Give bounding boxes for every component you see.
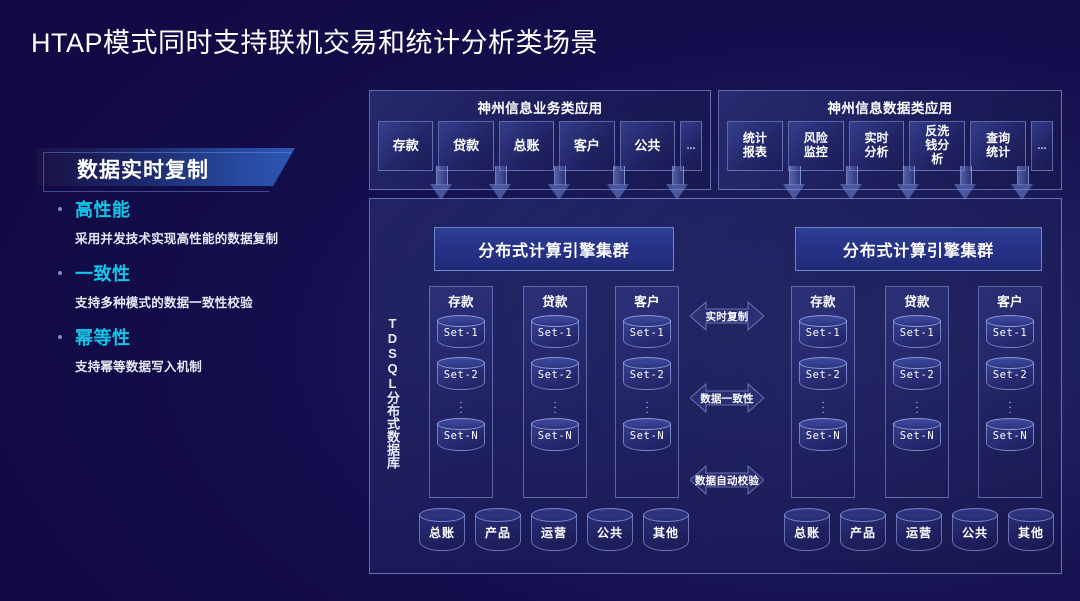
- set-cylinder: Set-1: [437, 315, 485, 352]
- sync-arrow: 数据一致性: [690, 378, 764, 418]
- cylinder-top: [419, 508, 465, 522]
- arrow-down-icon: [666, 166, 688, 200]
- app-chip: 实时 分析: [849, 121, 905, 171]
- app-chip: 公共: [620, 121, 675, 171]
- sync-arrow: 数据自动校验: [690, 460, 764, 500]
- set-cylinder: Set-1: [623, 315, 671, 352]
- set-cylinder: Set-2: [531, 357, 579, 394]
- bullet-title: 高性能: [75, 196, 131, 222]
- ribbon-label: 数据实时复制: [77, 154, 209, 184]
- sync-arrow-label: 实时复制: [690, 296, 764, 336]
- set-column: 贷款Set-1Set-2...Set-N: [885, 286, 949, 498]
- set-label: Set-N: [531, 430, 579, 442]
- cylinder-top: [893, 315, 941, 327]
- app-chip-more: ...: [680, 121, 702, 171]
- arrow-down-icon: [1011, 166, 1033, 200]
- app-chip: 客户: [559, 121, 614, 171]
- arrow-down-icon: [840, 166, 862, 200]
- bullet-description: 支持幂等数据写入机制: [75, 356, 358, 375]
- set-label: Set-1: [799, 327, 847, 339]
- vertical-ellipsis: ...: [616, 398, 678, 413]
- set-cylinder: Set-N: [531, 418, 579, 455]
- app-chip: 总账: [499, 121, 554, 171]
- store-cylinder: 运营: [896, 508, 942, 556]
- store-label: 运营: [531, 524, 577, 541]
- set-label: Set-N: [893, 430, 941, 442]
- store-cylinder: 其他: [643, 508, 689, 556]
- store-cylinder: 其他: [1008, 508, 1054, 556]
- sync-arrow-label: 数据自动校验: [690, 460, 764, 500]
- bullet-header: 高性能: [58, 196, 358, 222]
- store-cylinder: 总账: [784, 508, 830, 556]
- store-cylinder: 公共: [587, 508, 633, 556]
- bullet-description: 采用并发技术实现高性能的数据复制: [75, 228, 358, 247]
- store-label: 总账: [419, 524, 465, 541]
- set-cylinder: Set-N: [437, 418, 485, 455]
- bullet-dot-icon: [58, 207, 62, 211]
- cylinder-top: [531, 315, 579, 327]
- cylinder-top: [587, 508, 633, 522]
- set-label: Set-2: [437, 369, 485, 381]
- arrow-down-icon: [607, 166, 629, 200]
- bullet-header: 一致性: [58, 260, 358, 286]
- cylinder-top: [1008, 508, 1054, 522]
- set-label: Set-N: [623, 430, 671, 442]
- cylinder-top: [840, 508, 886, 522]
- cylinder-top: [531, 508, 577, 522]
- cylinder-top: [986, 357, 1034, 369]
- store-label: 产品: [840, 524, 886, 541]
- app-chip: 统计 报表: [727, 121, 783, 171]
- cylinder-top: [531, 418, 579, 430]
- store-label: 其他: [643, 524, 689, 541]
- set-column-title: 贷款: [886, 291, 948, 310]
- set-label: Set-2: [531, 369, 579, 381]
- list-item: 幂等性 支持幂等数据写入机制: [58, 324, 358, 375]
- cylinder-top: [784, 508, 830, 522]
- set-cylinder: Set-1: [531, 315, 579, 352]
- set-label: Set-1: [437, 327, 485, 339]
- arrow-down-icon: [783, 166, 805, 200]
- arrow-down-icon: [954, 166, 976, 200]
- feature-bullet-list: 高性能 采用并发技术实现高性能的数据复制 一致性 支持多种模式的数据一致性校验 …: [58, 196, 358, 388]
- page-title: HTAP模式同时支持联机交易和统计分析类场景: [31, 21, 598, 60]
- app-group-title: 神州信息业务类应用: [370, 97, 710, 117]
- set-label: Set-2: [986, 369, 1034, 381]
- cylinder-top: [799, 357, 847, 369]
- set-label: Set-1: [531, 327, 579, 339]
- vertical-ellipsis: ...: [886, 398, 948, 413]
- set-label: Set-1: [893, 327, 941, 339]
- store-cylinder: 产品: [840, 508, 886, 556]
- vertical-ellipsis: ...: [430, 398, 492, 413]
- store-cylinder: 总账: [419, 508, 465, 556]
- app-group-title: 神州信息数据类应用: [719, 97, 1061, 117]
- bullet-header: 幂等性: [58, 324, 358, 350]
- bottom-store-row: 总账产品运营公共其他: [419, 508, 689, 556]
- list-item: 高性能 采用并发技术实现高性能的数据复制: [58, 196, 358, 247]
- cylinder-top: [475, 508, 521, 522]
- vertical-ellipsis: ...: [524, 398, 586, 413]
- store-label: 公共: [952, 524, 998, 541]
- cylinder-top: [437, 418, 485, 430]
- set-label: Set-N: [437, 430, 485, 442]
- app-chip: 贷款: [438, 121, 493, 171]
- store-label: 总账: [784, 524, 830, 541]
- app-chip: 查询 统计: [970, 121, 1026, 171]
- set-column: 存款Set-1Set-2...Set-N: [429, 286, 493, 498]
- sync-arrow-label: 数据一致性: [690, 378, 764, 418]
- list-item: 一致性 支持多种模式的数据一致性校验: [58, 260, 358, 311]
- compute-engine-cluster-right: 分布式计算引擎集群: [795, 227, 1042, 271]
- cylinder-top: [623, 315, 671, 327]
- app-group-business: 神州信息业务类应用 存款 贷款 总账 客户 公共 ...: [369, 90, 711, 190]
- set-cylinder: Set-N: [799, 418, 847, 455]
- set-column-title: 存款: [792, 291, 854, 310]
- set-cylinder: Set-2: [437, 357, 485, 394]
- set-cylinder: Set-2: [623, 357, 671, 394]
- set-column: 贷款Set-1Set-2...Set-N: [523, 286, 587, 498]
- set-label: Set-2: [893, 369, 941, 381]
- cylinder-top: [893, 357, 941, 369]
- set-column-title: 客户: [979, 291, 1041, 310]
- cylinder-top: [986, 315, 1034, 327]
- store-label: 运营: [896, 524, 942, 541]
- cylinder-top: [437, 315, 485, 327]
- set-column: 客户Set-1Set-2...Set-N: [615, 286, 679, 498]
- app-chip-row: 统计 报表 风险 监控 实时 分析 反洗 钱分 析 查询 统计 ...: [719, 117, 1061, 171]
- arrow-down-icon: [897, 166, 919, 200]
- set-cylinder: Set-N: [986, 418, 1034, 455]
- cylinder-top: [952, 508, 998, 522]
- vertical-ellipsis: ...: [979, 398, 1041, 413]
- bullet-title: 幂等性: [75, 324, 131, 350]
- arrow-down-icon: [548, 166, 570, 200]
- set-cylinder: Set-N: [893, 418, 941, 455]
- store-label: 公共: [587, 524, 633, 541]
- set-cylinder: Set-2: [893, 357, 941, 394]
- set-cylinder: Set-2: [799, 357, 847, 394]
- set-label: Set-N: [986, 430, 1034, 442]
- set-label: Set-2: [623, 369, 671, 381]
- app-chip: 存款: [378, 121, 433, 171]
- set-cylinder: Set-N: [623, 418, 671, 455]
- set-label: Set-1: [986, 327, 1034, 339]
- app-chip-more: ...: [1031, 121, 1053, 171]
- set-label: Set-N: [799, 430, 847, 442]
- store-cylinder: 运营: [531, 508, 577, 556]
- cylinder-top: [437, 357, 485, 369]
- vertical-ellipsis: ...: [792, 398, 854, 413]
- cylinder-top: [799, 315, 847, 327]
- app-chip: 风险 监控: [788, 121, 844, 171]
- set-column-title: 贷款: [524, 291, 586, 310]
- cylinder-top: [893, 418, 941, 430]
- compute-engine-cluster-left: 分布式计算引擎集群: [434, 227, 674, 271]
- store-label: 其他: [1008, 524, 1054, 541]
- cylinder-top: [643, 508, 689, 522]
- set-column: 客户Set-1Set-2...Set-N: [978, 286, 1042, 498]
- set-cylinder: Set-1: [893, 315, 941, 352]
- app-chip-row: 存款 贷款 总账 客户 公共 ...: [370, 117, 710, 171]
- cylinder-top: [531, 357, 579, 369]
- section-ribbon: 数据实时复制: [37, 148, 295, 186]
- set-cylinder: Set-1: [986, 315, 1034, 352]
- bottom-store-row: 总账产品运营公共其他: [784, 508, 1054, 556]
- store-label: 产品: [475, 524, 521, 541]
- cylinder-top: [896, 508, 942, 522]
- set-cylinder: Set-2: [986, 357, 1034, 394]
- arrow-down-icon: [430, 166, 452, 200]
- tdsql-vertical-label: TDSQL分布式数据库: [379, 232, 401, 552]
- cylinder-top: [623, 357, 671, 369]
- set-column-title: 客户: [616, 291, 678, 310]
- store-cylinder: 公共: [952, 508, 998, 556]
- bullet-dot-icon: [58, 335, 62, 339]
- bullet-title: 一致性: [75, 260, 131, 286]
- bullet-dot-icon: [58, 271, 62, 275]
- cylinder-top: [986, 418, 1034, 430]
- arrow-down-icon: [489, 166, 511, 200]
- set-column: 存款Set-1Set-2...Set-N: [791, 286, 855, 498]
- bullet-description: 支持多种模式的数据一致性校验: [75, 292, 358, 311]
- cylinder-top: [799, 418, 847, 430]
- sync-arrow: 实时复制: [690, 296, 764, 336]
- set-cylinder: Set-1: [799, 315, 847, 352]
- set-label: Set-2: [799, 369, 847, 381]
- set-label: Set-1: [623, 327, 671, 339]
- cylinder-top: [623, 418, 671, 430]
- store-cylinder: 产品: [475, 508, 521, 556]
- app-chip: 反洗 钱分 析: [909, 121, 965, 171]
- set-column-title: 存款: [430, 291, 492, 310]
